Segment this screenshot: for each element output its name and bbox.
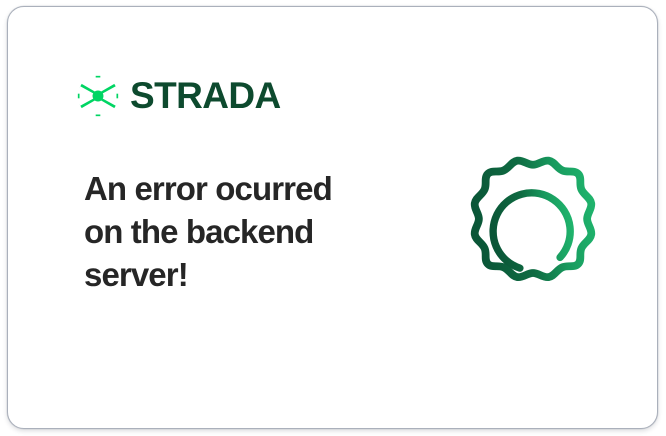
error-message: An error ocurred on the backend server!: [84, 167, 384, 296]
brand-wordmark: STRADA: [130, 77, 281, 114]
strada-asterisk-icon: [77, 75, 119, 117]
error-screen: STRADA An error ocurred on the backend s…: [0, 0, 666, 436]
error-card: STRADA An error ocurred on the backend s…: [7, 6, 658, 429]
brand-lockup: STRADA: [77, 75, 281, 117]
gear-cog-icon: [451, 150, 615, 314]
